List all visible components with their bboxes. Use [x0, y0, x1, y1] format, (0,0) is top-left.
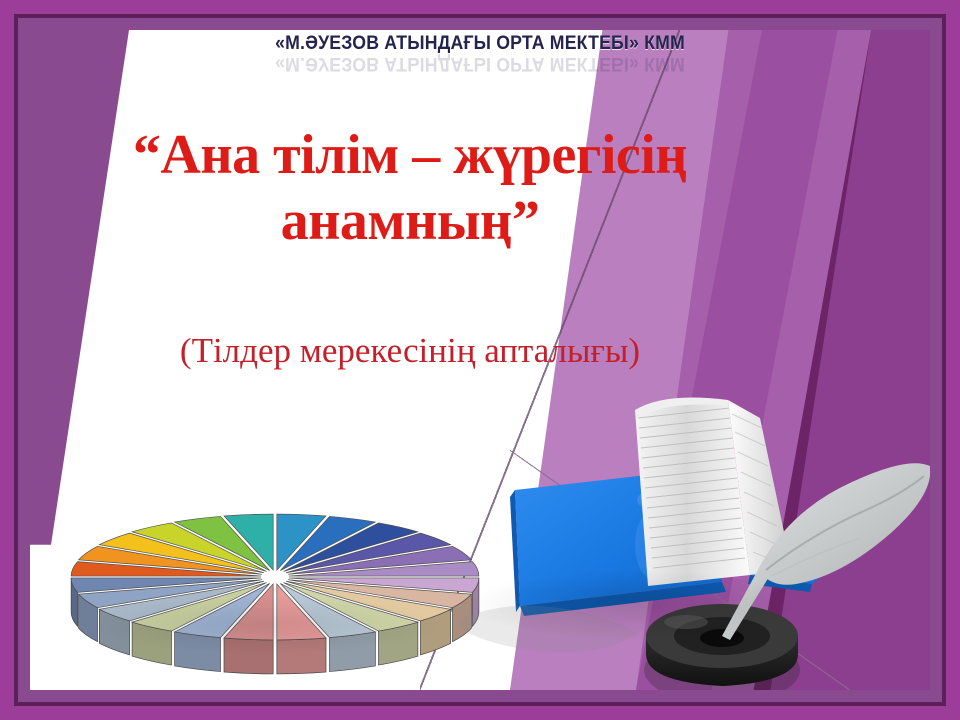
school-name-heading: «М.ӘУЕЗОВ АТЫНДАҒЫ ОРТА МЕКТЕБІ» КММ — [62, 33, 899, 55]
book-shadow — [470, 570, 800, 640]
pie-chart-shadow — [85, 595, 445, 655]
book-quill-svg — [460, 370, 930, 690]
slide-canvas: «М.ӘУЕЗОВ АТЫНДАҒЫ ОРТА МЕКТЕБІ» КММ «М.… — [30, 30, 930, 690]
presentation-slide: «М.ӘУЕЗОВ АТЫНДАҒЫ ОРТА МЕКТЕБІ» КММ «М.… — [0, 0, 960, 720]
slide-title-line-1: “Ана тілім – жүрегісің — [90, 122, 730, 188]
slide-title-line-2: анамның” — [90, 188, 730, 254]
book-quill-illustration — [460, 370, 930, 690]
pie-chart-illustration — [65, 485, 485, 675]
slide-subtitle: (Тілдер мерекесінің апталығы) — [90, 330, 730, 372]
slide-title: “Ана тілім – жүрегісің анамның” — [90, 122, 730, 254]
